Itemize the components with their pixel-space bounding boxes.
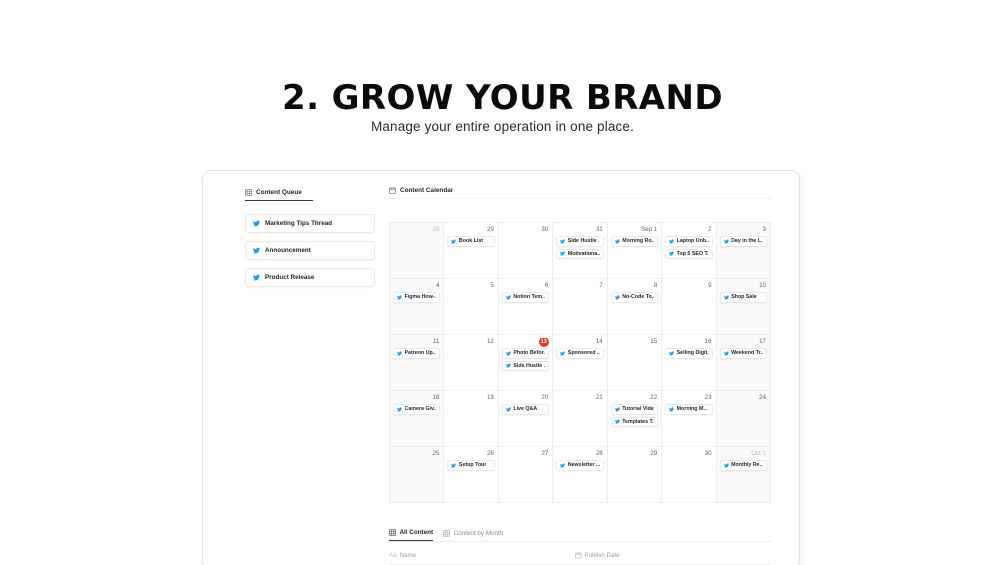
- day-number: 11: [393, 338, 440, 347]
- calendar-icon: [389, 187, 396, 194]
- twitter-icon: [506, 351, 511, 356]
- calendar-day-cell[interactable]: 11Patreon Up...: [390, 335, 444, 391]
- calendar-day-cell[interactable]: 15: [608, 335, 662, 391]
- twitter-icon: [615, 295, 620, 300]
- calendar-day-cell[interactable]: 7: [553, 279, 607, 335]
- calendar-event-label: Day in the L...: [731, 238, 763, 244]
- calendar-event[interactable]: Figma How-...: [393, 292, 440, 303]
- calendar-day-cell[interactable]: 2Laptop Unb...Top 5 SEO T...: [662, 223, 716, 279]
- twitter-icon: [724, 239, 729, 244]
- calendar-event[interactable]: Morning M...: [665, 404, 712, 415]
- calendar-event-label: Setup Tour: [459, 462, 487, 468]
- calendar-day-cell[interactable]: 29Book List: [444, 223, 498, 279]
- calendar-event-label: Weekend Tr...: [731, 350, 763, 356]
- day-number: 27: [502, 450, 549, 459]
- day-number: 15: [611, 338, 658, 347]
- day-events: Day in the L...: [720, 236, 767, 247]
- calendar-event[interactable]: Patreon Up...: [393, 348, 440, 359]
- calendar-day-cell[interactable]: 6Notion Tem...: [499, 279, 553, 335]
- calendar-day-cell[interactable]: Sep 1Morning Ro...: [608, 223, 662, 279]
- calendar-day-cell[interactable]: 13Photo Befor...Side Hustle ...: [499, 335, 553, 391]
- day-number: 18: [393, 394, 440, 403]
- day-number: 12: [447, 338, 494, 347]
- calendar-event-label: Figma How-...: [405, 294, 437, 300]
- calendar-day-cell[interactable]: 14Sponsored ...: [553, 335, 607, 391]
- calendar-day-cell[interactable]: 30: [662, 447, 716, 503]
- twitter-icon: [669, 251, 674, 256]
- app-window: Content Queue Marketing Tips ThreadAnnou…: [202, 170, 800, 565]
- twitter-icon: [253, 274, 260, 281]
- day-number: 6: [502, 282, 549, 291]
- day-number: 9: [665, 282, 712, 291]
- calendar-day-cell[interactable]: 30: [499, 223, 553, 279]
- calendar-event[interactable]: Selling Digit...: [665, 348, 712, 359]
- calendar-day-cell[interactable]: 27: [499, 447, 553, 503]
- twitter-icon: [615, 239, 620, 244]
- calendar-tab-divider: [389, 198, 771, 199]
- twitter-icon: [253, 247, 260, 254]
- day-number: 19: [447, 394, 494, 403]
- calendar-day-cell[interactable]: 3Day in the L...: [717, 223, 771, 279]
- day-number: 25: [393, 450, 440, 459]
- calendar-day-cell[interactable]: 25: [390, 447, 444, 503]
- day-number: 3: [720, 226, 767, 235]
- twitter-icon: [724, 295, 729, 300]
- day-number: Oct 1: [720, 450, 767, 459]
- table-column-label: Publish Date: [585, 552, 620, 559]
- calendar-day-cell[interactable]: 17Weekend Tr...: [717, 335, 771, 391]
- today-badge: 13: [539, 338, 549, 347]
- day-number: 10: [720, 282, 767, 291]
- twitter-icon: [724, 463, 729, 468]
- day-number: 5: [447, 282, 494, 291]
- tab-content-calendar-label: Content Calendar: [400, 187, 453, 194]
- twitter-icon: [560, 463, 565, 468]
- day-number: 29: [447, 226, 494, 235]
- twitter-icon: [669, 407, 674, 412]
- calendar-event[interactable]: No-Code To...: [611, 292, 658, 303]
- day-events: Weekend Tr...: [720, 348, 767, 359]
- tab-content-queue-label: Content Queue: [256, 189, 302, 196]
- twitter-icon: [397, 407, 402, 412]
- day-events: Laptop Unb...Top 5 SEO T...: [665, 236, 712, 259]
- calendar-day-cell[interactable]: 28: [390, 223, 444, 279]
- calendar-day-cell[interactable]: 16Selling Digit...: [662, 335, 716, 391]
- table-tab-divider: [389, 541, 771, 542]
- twitter-icon: [615, 419, 620, 424]
- day-number: 22: [611, 394, 658, 403]
- twitter-icon: [451, 463, 456, 468]
- calendar-day-cell[interactable]: 18Camera Giv...: [390, 391, 444, 447]
- calendar-event[interactable]: Side Hustle ...: [556, 236, 603, 247]
- content-table-section: All ContentContent by Month AaNamePublis…: [389, 529, 771, 565]
- twitter-icon: [669, 239, 674, 244]
- calendar-event[interactable]: Shop Sale: [720, 292, 767, 303]
- calendar-event-label: Book List: [459, 238, 483, 244]
- day-number: 30: [502, 226, 549, 235]
- queue-card-label: Marketing Tips Thread: [265, 220, 332, 227]
- twitter-icon: [506, 363, 511, 368]
- day-events: Camera Giv...: [393, 404, 440, 415]
- calendar-section: Content Calendar 2829Book List3031Side H…: [389, 187, 771, 503]
- table-column-header[interactable]: Publish Date: [575, 552, 620, 559]
- day-events: Shop Sale: [720, 292, 767, 303]
- day-events: Monthly Re...: [720, 460, 767, 471]
- calendar-event-label: Sponsored ...: [568, 350, 600, 356]
- twitter-icon: [669, 351, 674, 356]
- calendar-event-label: Patreon Up...: [405, 350, 437, 356]
- calendar-event[interactable]: Live Q&A: [502, 404, 549, 415]
- calendar-event-label: Side Hustle ...: [568, 238, 600, 244]
- calendar-day-cell[interactable]: 31Side Hustle ...Motivationa...: [553, 223, 607, 279]
- calendar-day-cell[interactable]: 10Shop Sale: [717, 279, 771, 335]
- calendar-day-cell[interactable]: 5: [444, 279, 498, 335]
- calendar-event[interactable]: Side Hustle ...: [502, 361, 549, 372]
- twitter-icon: [615, 407, 620, 412]
- calendar-event[interactable]: Newsletter ...: [556, 460, 603, 471]
- calendar-day-cell[interactable]: 26Setup Tour: [444, 447, 498, 503]
- day-events: No-Code To...: [611, 292, 658, 303]
- day-events: Side Hustle ...Motivationa...: [556, 236, 603, 259]
- calendar-event[interactable]: Monthly Re...: [720, 460, 767, 471]
- twitter-icon: [560, 251, 565, 256]
- table-tab-label: All Content: [400, 529, 434, 536]
- calendar-event-label: Photo Befor...: [513, 350, 545, 356]
- day-number: 17: [720, 338, 767, 347]
- calendar-event[interactable]: Notion Tem...: [502, 292, 549, 303]
- day-events: Photo Befor...Side Hustle ...: [502, 348, 549, 371]
- day-number: Sep 1: [611, 226, 658, 235]
- calendar-event-label: Laptop Unb...: [677, 238, 709, 244]
- day-events: Selling Digit...: [665, 348, 712, 359]
- aa-text-icon: Aa: [389, 552, 397, 559]
- day-number: 4: [393, 282, 440, 291]
- calendar-event-label: Notion Tem...: [513, 294, 545, 300]
- twitter-icon: [506, 407, 511, 412]
- day-number: 26: [447, 450, 494, 459]
- table-column-header[interactable]: AaName: [389, 552, 575, 559]
- calendar-event[interactable]: Book List: [447, 236, 494, 247]
- day-number: 23: [665, 394, 712, 403]
- queue-card-label: Product Release: [265, 274, 314, 281]
- day-events: Morning M...: [665, 404, 712, 415]
- queue-card[interactable]: Announcement: [245, 241, 375, 260]
- queue-card[interactable]: Product Release: [245, 268, 375, 287]
- calendar-event-label: Templates T...: [622, 419, 654, 425]
- twitter-icon: [560, 351, 565, 356]
- table-tabs: All ContentContent by Month: [389, 529, 771, 541]
- sidebar: Content Queue Marketing Tips ThreadAnnou…: [245, 189, 375, 287]
- calendar-day-cell[interactable]: Oct 1Monthly Re...: [717, 447, 771, 503]
- calendar-event-label: Camera Giv...: [405, 406, 437, 412]
- day-events: Morning Ro...: [611, 236, 658, 247]
- calendar-event[interactable]: Tutorial Video: [611, 404, 658, 415]
- table-tab-label: Content by Month: [454, 530, 504, 537]
- calendar-day-cell[interactable]: 21: [553, 391, 607, 447]
- content-queue-list: Marketing Tips ThreadAnnouncementProduct…: [245, 214, 375, 287]
- calendar-day-cell[interactable]: 20Live Q&A: [499, 391, 553, 447]
- day-number: 2: [665, 226, 712, 235]
- calendar-event-label: Live Q&A: [513, 406, 537, 412]
- day-events: Setup Tour: [447, 460, 494, 471]
- day-number: 30: [665, 450, 712, 459]
- calendar-event-label: No-Code To...: [622, 294, 654, 300]
- day-number: 29: [611, 450, 658, 459]
- calendar-day-cell[interactable]: 4Figma How-...: [390, 279, 444, 335]
- calendar-event-label: Side Hustle ...: [513, 363, 545, 369]
- day-number: 21: [556, 394, 603, 403]
- calendar-day-cell[interactable]: 12: [444, 335, 498, 391]
- calendar-event-label: Motivationa...: [568, 251, 600, 257]
- day-events: Newsletter ...: [556, 460, 603, 471]
- table-tab[interactable]: All Content: [389, 529, 433, 541]
- day-events: Tutorial VideoTemplates T...: [611, 404, 658, 427]
- calendar-event[interactable]: Templates T...: [611, 417, 658, 428]
- twitter-icon: [560, 239, 565, 244]
- twitter-icon: [724, 351, 729, 356]
- page-root: 2. GROW YOUR BRAND Manage your entire op…: [0, 0, 1005, 565]
- calendar-event[interactable]: Camera Giv...: [393, 404, 440, 415]
- twitter-icon: [506, 295, 511, 300]
- queue-card[interactable]: Marketing Tips Thread: [245, 214, 375, 233]
- calendar-day-cell[interactable]: 23Morning M...: [662, 391, 716, 447]
- day-events: Figma How-...: [393, 292, 440, 303]
- calendar-event[interactable]: Motivationa...: [556, 249, 603, 260]
- calendar-day-cell[interactable]: 28Newsletter ...: [553, 447, 607, 503]
- calendar-event[interactable]: Morning Ro...: [611, 236, 658, 247]
- calendar-event[interactable]: Top 5 SEO T...: [665, 249, 712, 260]
- table-column-label: Name: [400, 552, 417, 559]
- twitter-icon: [451, 239, 456, 244]
- grid-table-icon: [245, 189, 252, 196]
- day-number: 8: [611, 282, 658, 291]
- calendar-event-label: Newsletter ...: [568, 462, 600, 468]
- twitter-icon: [397, 295, 402, 300]
- twitter-icon: [253, 220, 260, 227]
- table-header-row: AaNamePublish Date: [389, 552, 771, 565]
- calendar-event[interactable]: Photo Befor...: [502, 348, 549, 359]
- day-events: Live Q&A: [502, 404, 549, 415]
- grid-table-icon: [389, 529, 396, 536]
- table-tab[interactable]: Content by Month: [443, 530, 503, 541]
- calendar-event[interactable]: Day in the L...: [720, 236, 767, 247]
- calendar-event-label: Top 5 SEO T...: [677, 251, 709, 257]
- calendar-day-cell[interactable]: 19: [444, 391, 498, 447]
- day-number: 31: [556, 226, 603, 235]
- calendar-day-cell[interactable]: 24: [717, 391, 771, 447]
- calendar-event[interactable]: Weekend Tr...: [720, 348, 767, 359]
- calendar-day-cell[interactable]: 22Tutorial VideoTemplates T...: [608, 391, 662, 447]
- day-events: Patreon Up...: [393, 348, 440, 359]
- day-events: Sponsored ...: [556, 348, 603, 359]
- calendar-event-label: Shop Sale: [731, 294, 757, 300]
- grid-table-icon: [443, 530, 450, 537]
- twitter-icon: [397, 351, 402, 356]
- queue-card-label: Announcement: [265, 247, 311, 254]
- day-number: 24: [720, 394, 767, 403]
- day-events: Book List: [447, 236, 494, 247]
- calendar-event[interactable]: Laptop Unb...: [665, 236, 712, 247]
- calendar-event-label: Morning M...: [677, 406, 708, 412]
- page-subtitle: Manage your entire operation in one plac…: [0, 119, 1005, 134]
- calendar-day-cell[interactable]: 29: [608, 447, 662, 503]
- tab-content-queue[interactable]: Content Queue: [245, 189, 313, 201]
- day-number: 28: [556, 450, 603, 459]
- day-number: 28: [393, 226, 440, 235]
- calendar-grid: 2829Book List3031Side Hustle ...Motivati…: [389, 222, 771, 503]
- calendar-event[interactable]: Setup Tour: [447, 460, 494, 471]
- day-number: 20: [502, 394, 549, 403]
- calendar-event-label: Selling Digit...: [677, 350, 709, 356]
- calendar-event-label: Morning Ro...: [622, 238, 654, 244]
- calendar-day-cell[interactable]: 9: [662, 279, 716, 335]
- calendar-event-label: Tutorial Video: [622, 406, 654, 412]
- calendar-event[interactable]: Sponsored ...: [556, 348, 603, 359]
- calendar-day-cell[interactable]: 8No-Code To...: [608, 279, 662, 335]
- calendar-event-label: Monthly Re...: [731, 462, 763, 468]
- day-events: Notion Tem...: [502, 292, 549, 303]
- day-number: 7: [556, 282, 603, 291]
- page-title: 2. GROW YOUR BRAND: [0, 78, 1005, 118]
- day-number: 14: [556, 338, 603, 347]
- calendar-icon: [575, 552, 582, 559]
- day-number: 16: [665, 338, 712, 347]
